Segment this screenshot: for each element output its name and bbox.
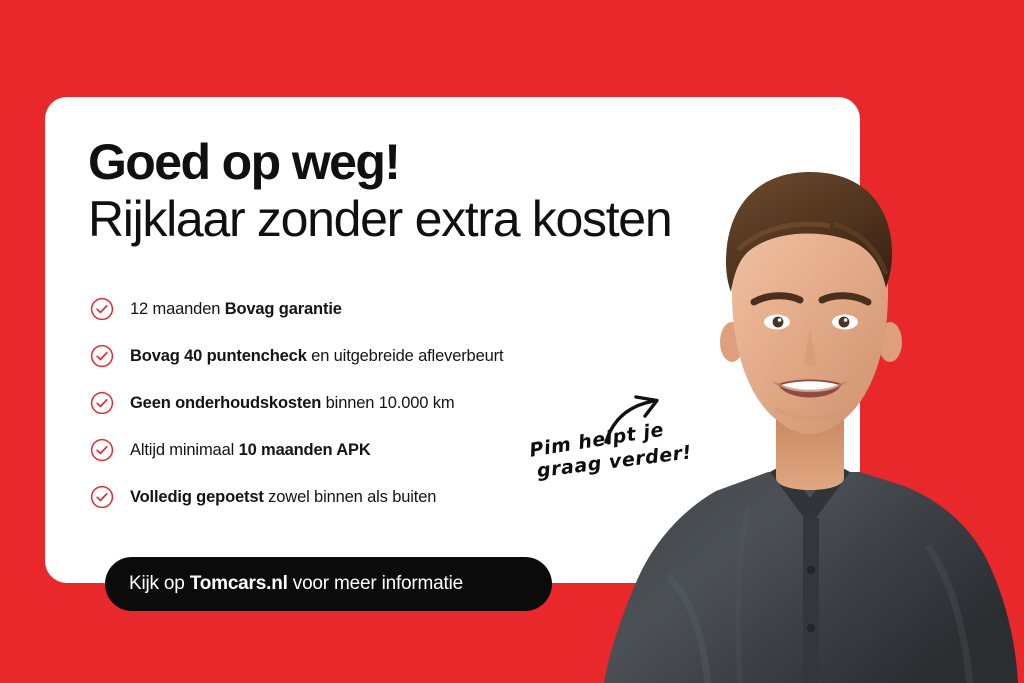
list-item-label: 12 maanden Bovag garantie (130, 301, 342, 318)
cta-button[interactable]: Kijk op Tomcars.nl voor meer informatie (105, 557, 552, 611)
cta-button-label: Kijk op Tomcars.nl voor meer informatie (129, 573, 463, 595)
page-title: Goed op weg! (88, 137, 788, 188)
promo-banner: Goed op weg! Rijklaar zonder extra koste… (0, 0, 1024, 683)
check-circle-icon (90, 485, 114, 509)
list-item-label: Bovag 40 puntencheck en uitgebreide afle… (130, 348, 503, 365)
list-item-label: Volledig gepoetst zowel binnen als buite… (130, 489, 436, 506)
page-subtitle: Rijklaar zonder extra kosten (88, 191, 788, 247)
list-item-label: Geen onderhoudskosten binnen 10.000 km (130, 395, 454, 412)
list-item: Volledig gepoetst zowel binnen als buite… (90, 485, 730, 509)
list-item: 12 maanden Bovag garantie (90, 297, 730, 321)
list-item-label: Altijd minimaal 10 maanden APK (130, 442, 371, 459)
check-circle-icon (90, 391, 114, 415)
list-item: Bovag 40 puntencheck en uitgebreide afle… (90, 344, 730, 368)
check-circle-icon (90, 438, 114, 462)
check-circle-icon (90, 344, 114, 368)
check-circle-icon (90, 297, 114, 321)
headline-block: Goed op weg! Rijklaar zonder extra koste… (88, 137, 788, 247)
